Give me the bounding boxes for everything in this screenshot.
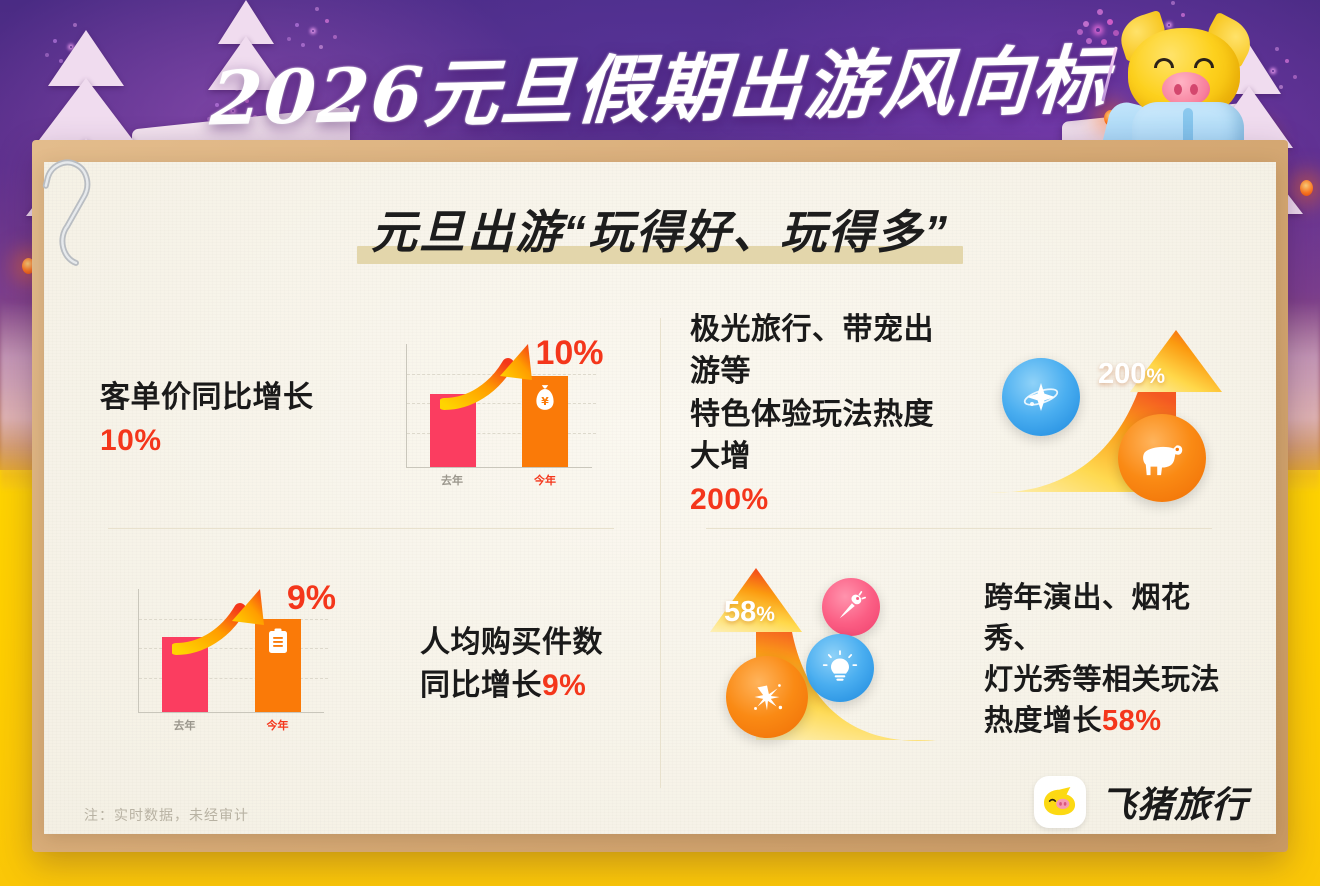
q4-line2: 灯光秀等相关玩法 <box>984 660 1240 701</box>
q2-line2: 特色体验玩法热度大增 <box>690 394 962 479</box>
stat-block-nye-shows: 58% <box>700 560 1240 760</box>
sparkler-stick <box>1101 46 1117 101</box>
q1-text: 客单价同比增长 10% <box>100 377 314 462</box>
q2-value: 200% <box>690 479 962 522</box>
firework-glyph <box>745 675 789 719</box>
brand-logo: 飞猪旅行 <box>1034 775 1248 829</box>
arrow-pct-58: 58% <box>724 596 775 629</box>
chart-growth-label: 10% <box>535 334 603 373</box>
chart-x-axis: 去年 今年 <box>138 717 324 733</box>
q3-value: 9% <box>542 669 586 702</box>
aurora-sparkle-glyph <box>1019 375 1063 419</box>
q2-line1: 极光旅行、带宠出游等 <box>690 309 962 394</box>
firework-icon <box>726 656 808 738</box>
page-title-text: 2026元旦假期出游风向标 <box>208 20 1113 146</box>
q4-text: 跨年演出、烟花秀、 灯光秀等相关玩法 热度增长58% <box>984 578 1240 743</box>
q1-value: 10% <box>100 420 314 463</box>
lightbulb-icon <box>806 634 874 702</box>
microphone-glyph <box>835 591 867 623</box>
growth-arrow-graphic-200: 200% <box>980 320 1230 510</box>
subtitle-text: 元旦出游“玩得好、玩得多” <box>371 206 949 258</box>
axis-label-this-year: 今年 <box>534 472 556 488</box>
stat-block-experience-play: 极光旅行、带宠出游等 特色体验玩法热度大增 200% 200% <box>690 320 1230 510</box>
arrow-pct-200-symbol: % <box>1146 365 1165 388</box>
mascot-snout <box>1162 72 1210 106</box>
q3-text: 人均购买件数 同比增长9% <box>420 622 603 707</box>
q3-line2-prefix: 同比增长 <box>420 669 542 702</box>
arrow-pct-200-number: 200 <box>1098 358 1146 390</box>
q3-line2: 同比增长9% <box>420 665 603 708</box>
stat-block-items-per-person: 去年 今年 9% 人均购买件数 同比增长9% <box>130 570 650 760</box>
divider-vertical <box>660 318 661 788</box>
page-title: 2026元旦假期出游风向标 <box>200 28 1120 138</box>
fliggy-pig-glyph <box>1041 786 1079 818</box>
divider-horizontal-left <box>108 528 614 529</box>
stat-block-avg-order-value: 客单价同比增长 10% ¥ 去年 今年 <box>100 330 630 510</box>
chart-x-axis: 去年 今年 <box>406 472 592 488</box>
q1-line1: 客单价同比增长 <box>100 377 314 420</box>
q4-value: 58% <box>1102 705 1162 737</box>
divider-horizontal-right <box>706 528 1212 529</box>
arrow-pct-200: 200% <box>1098 358 1165 391</box>
pet-dog-glyph <box>1137 437 1187 479</box>
fliggy-pig-logo <box>1034 776 1086 828</box>
aurora-sparkle-icon <box>1002 358 1080 436</box>
microphone-icon <box>822 578 880 636</box>
axis-label-last-year: 去年 <box>441 472 463 488</box>
arrow-pct-58-number: 58 <box>724 596 756 628</box>
sparkler-icon <box>1096 28 1100 32</box>
lightbulb-glyph <box>822 650 858 686</box>
growth-arrow-icon <box>172 587 282 665</box>
pet-dog-icon <box>1118 414 1206 502</box>
q4-line1: 跨年演出、烟花秀、 <box>984 578 1240 660</box>
bar-chart-items-per-person: 去年 今年 9% <box>130 585 330 745</box>
arrow-pct-58-symbol: % <box>756 603 775 626</box>
growth-arrow-icon <box>440 342 550 420</box>
chart-growth-label: 9% <box>287 579 336 618</box>
q4-line3: 热度增长58% <box>984 701 1240 742</box>
q2-text: 极光旅行、带宠出游等 特色体验玩法热度大增 200% <box>690 309 962 522</box>
q4-line3-prefix: 热度增长 <box>984 705 1102 737</box>
bar-chart-avg-order-value: ¥ 去年 今年 10% <box>398 340 598 500</box>
growth-arrow-graphic-58: 58% <box>700 560 950 760</box>
axis-label-this-year: 今年 <box>267 717 289 733</box>
footnote: 注：实时数据，未经审计 <box>84 805 249 825</box>
card-subtitle: 元旦出游“玩得好、玩得多” <box>0 196 1320 262</box>
axis-label-last-year: 去年 <box>174 717 196 733</box>
q3-line1: 人均购买件数 <box>420 622 603 665</box>
brand-name: 飞猪旅行 <box>1100 776 1248 828</box>
